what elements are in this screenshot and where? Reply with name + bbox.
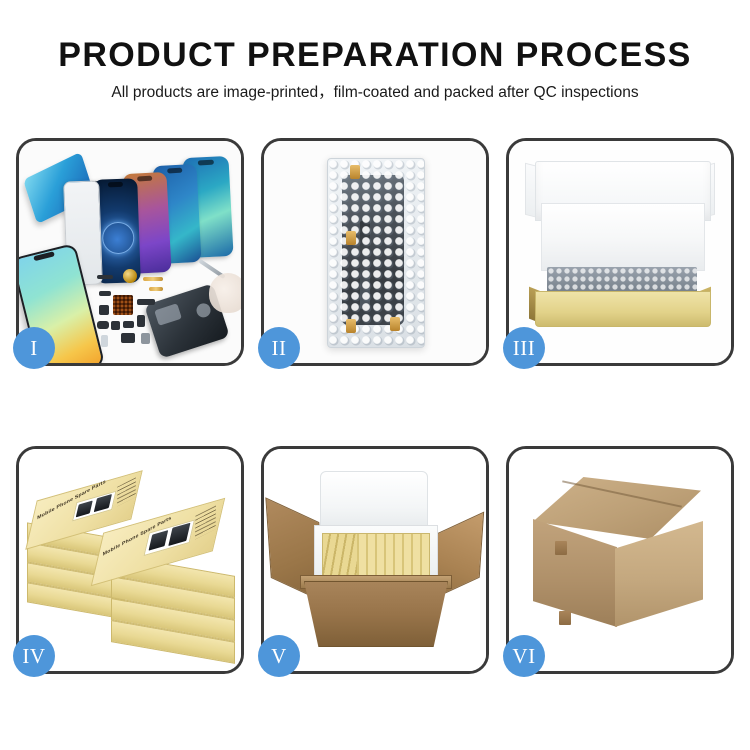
phone-notch-icon <box>198 160 214 166</box>
small-part <box>141 333 150 344</box>
step-badge-4: IV <box>13 635 55 677</box>
kraft-box-front <box>535 291 711 327</box>
tape-tab <box>346 319 356 333</box>
page-title: PRODUCT PREPARATION PROCESS <box>0 38 750 72</box>
small-part <box>137 299 155 305</box>
panel-3-image <box>509 141 731 363</box>
small-part <box>137 315 145 327</box>
phone-notch-icon <box>167 168 182 174</box>
speaker-coin-part <box>123 269 137 283</box>
panel-phones-and-parts[interactable]: I Assorted phones, screen protectors and… <box>16 138 244 366</box>
tape-tab <box>390 317 400 331</box>
carton-front-wall <box>304 581 448 647</box>
step-badge-2: II <box>258 327 300 369</box>
tape-tab <box>346 231 356 245</box>
phone-notch-icon <box>108 182 123 188</box>
step-badge-1: I <box>13 327 55 369</box>
small-part <box>97 321 109 329</box>
styrofoam-lid <box>320 471 428 531</box>
flex-cable-part <box>149 287 163 291</box>
panel-4-image: Mobile Phone Spare Parts Mobile Phone Sp… <box>19 449 241 671</box>
panel-5-image <box>264 449 486 671</box>
small-part <box>123 321 134 328</box>
phone-notch-icon <box>33 251 55 261</box>
phone-notch-icon <box>137 176 152 182</box>
small-part <box>97 275 113 279</box>
flex-cable-part <box>143 277 163 281</box>
step-badge-5: V <box>258 635 300 677</box>
carton-tape-patch <box>559 611 571 625</box>
panel-bubble-wrapped-screen[interactable]: II LCD screen assembly sealed in bubble … <box>261 138 489 366</box>
kraft-box-stack: Mobile Phone Spare Parts Mobile Phone Sp… <box>27 469 239 659</box>
box-spec-lines <box>117 477 136 506</box>
panel-2-image <box>264 141 486 363</box>
process-panel-grid: I Assorted phones, screen protectors and… <box>16 138 734 674</box>
panel-1-image <box>19 141 241 363</box>
panel-sealed-carton[interactable]: VI Sealed brown shipping carton ready fo… <box>506 446 734 674</box>
spare-parts-cluster <box>97 269 197 355</box>
box-spec-lines <box>195 505 216 539</box>
small-part <box>111 321 120 330</box>
tape-tab <box>350 165 360 179</box>
panel-6-image <box>509 449 731 671</box>
step-badge-3: III <box>503 327 545 369</box>
small-part <box>99 291 111 296</box>
small-part <box>101 335 108 347</box>
technician-hand <box>209 273 241 313</box>
white-foam-sheet <box>541 203 705 271</box>
small-part <box>121 333 135 343</box>
panel-stacked-boxes[interactable]: Mobile Phone Spare Parts Mobile Phone Sp… <box>16 446 244 674</box>
bubble-wrap-bag <box>327 158 425 348</box>
packed-kraft-boxes <box>322 533 430 577</box>
panel-open-kraft-box[interactable]: III Open kraft box lined with white foam… <box>506 138 734 366</box>
carton-tape-patch <box>555 541 567 555</box>
bubble-texture <box>328 159 424 347</box>
page-subtitle: All products are image-printed，film-coat… <box>0 85 750 101</box>
mesh-chip-part <box>113 295 133 315</box>
panel-foam-carton[interactable]: V Shipping carton with foam insert fille… <box>261 446 489 674</box>
header: PRODUCT PREPARATION PROCESS All products… <box>0 0 750 101</box>
step-badge-6: VI <box>503 635 545 677</box>
small-part <box>99 305 109 315</box>
